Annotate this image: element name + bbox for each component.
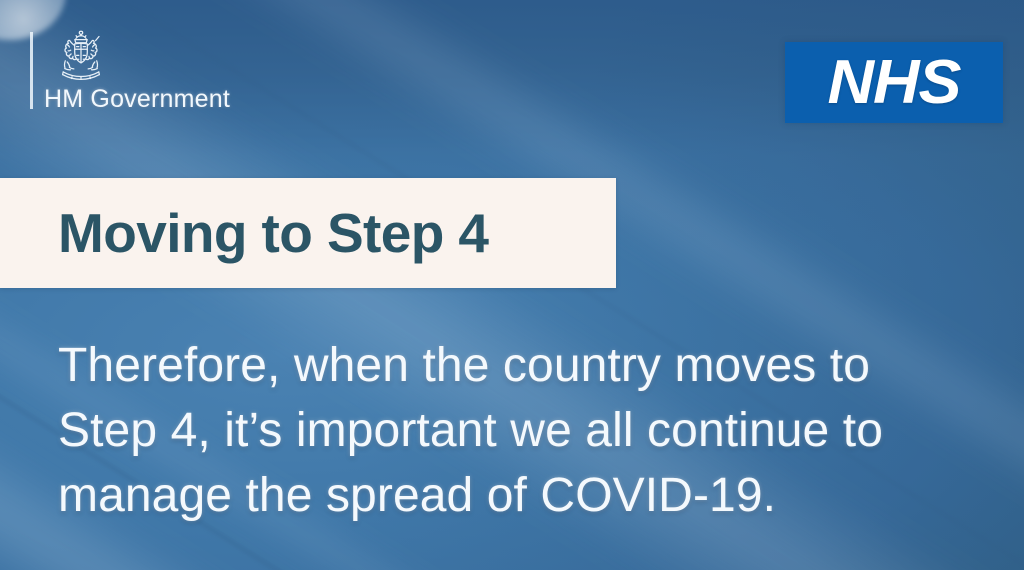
nhs-logo-label: NHS [827,52,960,114]
page-title: Moving to Step 4 [58,204,488,262]
body-text-line: Therefore, when the country moves to [58,333,988,398]
covid-information-slide: HM Government NHS Moving to Step 4 There… [0,0,1024,570]
hm-government-logo: HM Government [30,28,230,114]
body-text-line: manage the spread of COVID-19. [58,463,988,528]
logo-divider-rule [30,32,33,109]
nhs-logo: NHS [785,42,1003,123]
body-text: Therefore, when the country moves to Ste… [58,333,988,528]
heading-banner: Moving to Step 4 [0,178,616,288]
royal-coat-of-arms-icon [50,28,112,82]
hm-government-label: HM Government [44,84,230,114]
body-text-line: Step 4, it’s important we all continue t… [58,398,988,463]
